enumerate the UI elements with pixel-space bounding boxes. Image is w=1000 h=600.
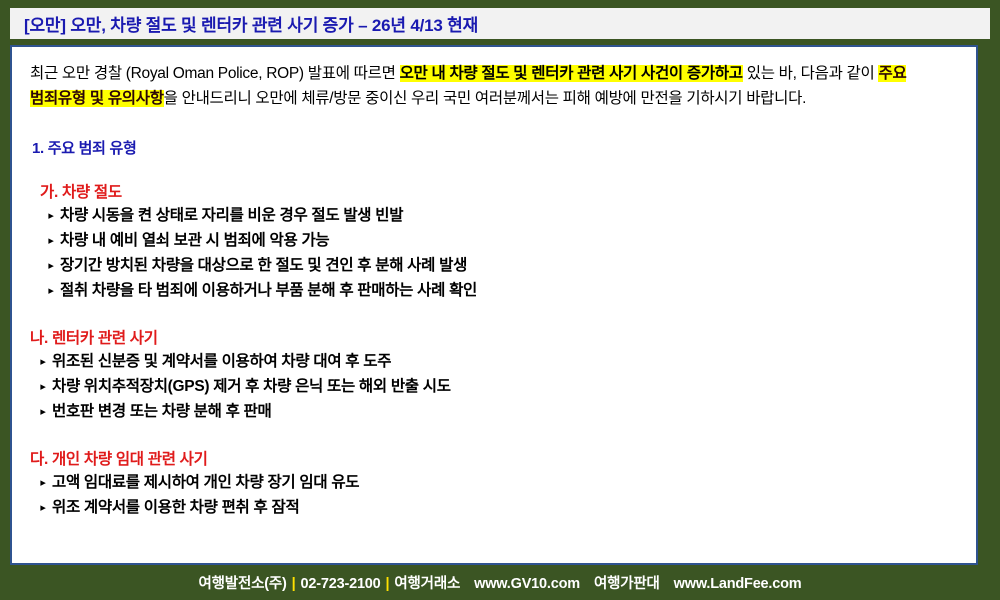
list-item: ▸ 장기간 방치된 차량을 대상으로 한 절도 및 견인 후 분해 사례 발생 bbox=[42, 254, 958, 279]
notice-content-card: 최근 오만 경찰 (Royal Oman Police, ROP) 발표에 따르… bbox=[10, 45, 978, 565]
bullet-arrow-icon: ▸ bbox=[42, 279, 60, 303]
intro-segment-3: 을 안내드리니 오만에 체류/방문 중이신 우리 국민 여러분께서는 피해 예방… bbox=[164, 90, 806, 107]
footer-separator: | bbox=[287, 576, 301, 592]
list-item: ▸ 위조 계약서를 이용한 차량 편취 후 잠적 bbox=[34, 496, 958, 521]
footer-contact-line: 여행발전소(주)|02-723-2100|여행거래소www.GV10.com여행… bbox=[199, 572, 802, 593]
subsection-heading: 나. 렌터카 관련 사기 bbox=[30, 326, 958, 348]
notice-frame: [오만] 오만, 차량 절도 및 렌터카 관련 사기 증가 – 26년 4/13… bbox=[0, 0, 1000, 600]
intro-segment-1: 최근 오만 경찰 (Royal Oman Police, ROP) 발표에 따르… bbox=[30, 65, 400, 82]
list-item: ▸ 고액 임대료를 제시하여 개인 차량 장기 임대 유도 bbox=[34, 471, 958, 496]
subsection-rental-car-fraud: 나. 렌터카 관련 사기 ▸ 위조된 신분증 및 계약서를 이용하여 차량 대여… bbox=[30, 326, 958, 425]
bullet-arrow-icon: ▸ bbox=[34, 471, 52, 495]
intro-paragraph: 최근 오만 경찰 (Royal Oman Police, ROP) 발표에 따르… bbox=[30, 61, 958, 111]
list-item: ▸ 위조된 신분증 및 계약서를 이용하여 차량 대여 후 도주 bbox=[34, 350, 958, 375]
intro-highlight-1: 오만 내 차량 절도 및 렌터카 관련 사기 사건이 증가하고 bbox=[400, 65, 743, 82]
subsection-heading: 가. 차량 절도 bbox=[30, 180, 958, 202]
footer-phone: 02-723-2100 bbox=[301, 576, 381, 592]
list-item-text: 차량 위치추적장치(GPS) 제거 후 차량 은닉 또는 해외 반출 시도 bbox=[52, 375, 451, 399]
bullet-arrow-icon: ▸ bbox=[42, 254, 60, 278]
title-bar: [오만] 오만, 차량 절도 및 렌터카 관련 사기 증가 – 26년 4/13… bbox=[10, 8, 990, 39]
footer-company-name: 여행발전소(주) bbox=[199, 576, 287, 592]
list-item-text: 위조 계약서를 이용한 차량 편취 후 잠적 bbox=[52, 496, 299, 520]
list-item-text: 절취 차량을 타 범죄에 이용하거나 부품 분해 후 판매하는 사례 확인 bbox=[60, 279, 477, 303]
bullet-arrow-icon: ▸ bbox=[34, 375, 52, 399]
bullet-list: ▸ 차량 시동을 켠 상태로 자리를 비운 경우 절도 발생 빈발 ▸ 차량 내… bbox=[30, 204, 958, 304]
bullet-arrow-icon: ▸ bbox=[34, 400, 52, 424]
list-item-text: 번호판 변경 또는 차량 분해 후 판매 bbox=[52, 400, 271, 424]
list-item: ▸ 번호판 변경 또는 차량 분해 후 판매 bbox=[34, 400, 958, 425]
list-item-text: 차량 시동을 켠 상태로 자리를 비운 경우 절도 발생 빈발 bbox=[60, 204, 403, 228]
bullet-arrow-icon: ▸ bbox=[42, 204, 60, 228]
list-item: ▸ 차량 위치추적장치(GPS) 제거 후 차량 은닉 또는 해외 반출 시도 bbox=[34, 375, 958, 400]
list-item-text: 고액 임대료를 제시하여 개인 차량 장기 임대 유도 bbox=[52, 471, 359, 495]
footer-bar: 여행발전소(주)|02-723-2100|여행거래소www.GV10.com여행… bbox=[0, 565, 1000, 600]
bullet-arrow-icon: ▸ bbox=[34, 496, 52, 520]
list-item: ▸ 절취 차량을 타 범죄에 이용하거나 부품 분해 후 판매하는 사례 확인 bbox=[42, 279, 958, 304]
section-heading-crime-types: 1. 주요 범죄 유형 bbox=[32, 137, 958, 158]
intro-segment-2: 있는 바, 다음과 같이 bbox=[743, 65, 879, 82]
bullet-list: ▸ 고액 임대료를 제시하여 개인 차량 장기 임대 유도 ▸ 위조 계약서를 … bbox=[30, 471, 958, 521]
footer-separator: | bbox=[381, 576, 395, 592]
list-item-text: 위조된 신분증 및 계약서를 이용하여 차량 대여 후 도주 bbox=[52, 350, 391, 374]
subsection-vehicle-theft: 가. 차량 절도 ▸ 차량 시동을 켠 상태로 자리를 비운 경우 절도 발생 … bbox=[30, 180, 958, 304]
bullet-arrow-icon: ▸ bbox=[42, 229, 60, 253]
footer-partner2-name: 여행가판대 bbox=[594, 576, 660, 592]
subsection-private-rental-fraud: 다. 개인 차량 임대 관련 사기 ▸ 고액 임대료를 제시하여 개인 차량 장… bbox=[30, 447, 958, 521]
footer-partner1-url[interactable]: www.GV10.com bbox=[474, 576, 580, 592]
bullet-list: ▸ 위조된 신분증 및 계약서를 이용하여 차량 대여 후 도주 ▸ 차량 위치… bbox=[30, 350, 958, 425]
subsection-heading: 다. 개인 차량 임대 관련 사기 bbox=[30, 447, 958, 469]
footer-partner1-name: 여행거래소 bbox=[394, 576, 460, 592]
bullet-arrow-icon: ▸ bbox=[34, 350, 52, 374]
footer-partner2-url[interactable]: www.LandFee.com bbox=[674, 576, 802, 592]
list-item: ▸ 차량 시동을 켠 상태로 자리를 비운 경우 절도 발생 빈발 bbox=[42, 204, 958, 229]
page-title: [오만] 오만, 차량 절도 및 렌터카 관련 사기 증가 – 26년 4/13… bbox=[24, 11, 478, 36]
list-item-text: 차량 내 예비 열쇠 보관 시 범죄에 악용 가능 bbox=[60, 229, 329, 253]
list-item-text: 장기간 방치된 차량을 대상으로 한 절도 및 견인 후 분해 사례 발생 bbox=[60, 254, 467, 278]
list-item: ▸ 차량 내 예비 열쇠 보관 시 범죄에 악용 가능 bbox=[42, 229, 958, 254]
